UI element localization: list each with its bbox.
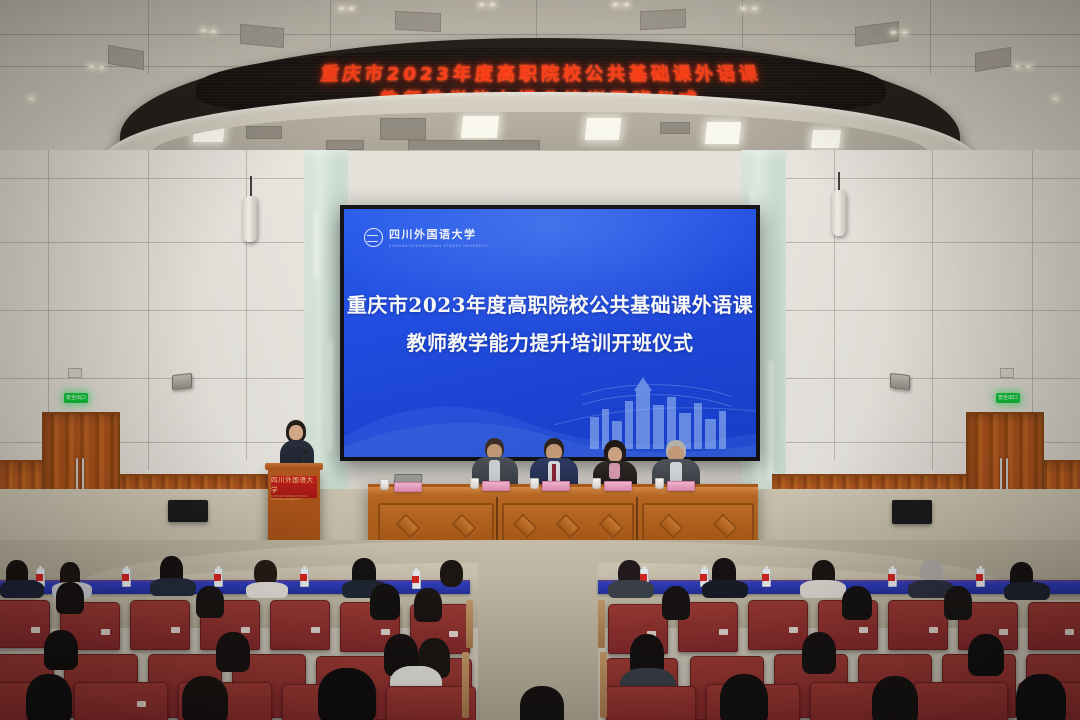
ceiling-panel-light xyxy=(705,122,741,144)
podium-plaque-text-cn: 四川外国语大学 xyxy=(271,474,317,494)
nameplate xyxy=(394,482,422,492)
attendee-head xyxy=(56,582,84,614)
exit-sign-left: 安全出口 xyxy=(64,393,88,403)
speaker-mount-stem xyxy=(250,176,252,198)
tea-cup xyxy=(470,478,479,489)
ceiling-downlight xyxy=(200,28,207,33)
ceiling-vent-grille xyxy=(975,47,1011,72)
ceiling-downlight xyxy=(623,2,630,7)
water-bottle xyxy=(976,568,985,587)
water-bottle xyxy=(762,568,771,587)
wall-speaker-right xyxy=(890,373,910,390)
screen-logo-text-en: SICHUAN INTERNATIONAL STUDIES UNIVERSITY xyxy=(389,244,488,248)
attendee-head xyxy=(720,674,768,720)
attendee-head xyxy=(842,586,872,620)
projection-screen: 四川外国语大学 SICHUAN INTERNATIONAL STUDIES UN… xyxy=(344,209,756,457)
audience-seat[interactable] xyxy=(748,600,808,650)
audience-seat[interactable] xyxy=(888,600,948,650)
wall-fixture-left xyxy=(68,368,82,378)
auditorium-scene: 重庆市2023年度高职院校公共基础课外语课 教师教学能力提升培训开班仪式 xyxy=(0,0,1080,720)
stage-monitor-left xyxy=(168,500,208,522)
soffit-vent xyxy=(246,126,282,139)
speaker-mount-stem xyxy=(838,172,840,192)
nameplate xyxy=(542,481,570,491)
exit-sign-label: 安全出口 xyxy=(998,396,1018,401)
water-bottle xyxy=(412,570,421,589)
attendee-head xyxy=(662,586,690,620)
audience-seat[interactable] xyxy=(1028,602,1080,650)
audience-seat[interactable] xyxy=(0,600,50,648)
ceiling-downlight xyxy=(210,29,217,34)
seat-divider xyxy=(600,652,607,718)
attendee-head xyxy=(318,668,376,720)
screen-logo-text-cn: 四川外国语大学 xyxy=(389,226,488,242)
audience-seat[interactable] xyxy=(914,682,1008,720)
water-bottle xyxy=(300,568,309,587)
ceiling-downlight xyxy=(1014,64,1021,69)
screen-title-line-1: 重庆市2023年度高职院校公共基础课外语课 xyxy=(344,289,756,318)
hanging-speaker-left xyxy=(243,196,257,242)
ceiling-downlight xyxy=(890,30,897,35)
ceiling-downlight xyxy=(740,6,747,11)
attendee-shoulders xyxy=(702,580,748,598)
tea-cup xyxy=(592,478,601,489)
seat-divider xyxy=(462,652,469,718)
attendee-shoulders xyxy=(246,582,288,598)
podium-plaque-text-en: SICHUAN INTERNATIONAL STUDIES UNIVERSITY xyxy=(271,495,317,501)
stage-monitor-right xyxy=(892,500,932,524)
hanging-speaker-right xyxy=(832,190,846,236)
attendee-head xyxy=(872,676,918,720)
water-bottle xyxy=(214,568,223,587)
attendee-head xyxy=(802,632,836,674)
ceiling-downlight xyxy=(338,6,345,11)
attendee-head xyxy=(1016,674,1066,720)
attendee-head xyxy=(370,584,400,620)
audience-seat[interactable] xyxy=(130,600,190,650)
ceiling-panel-light xyxy=(585,118,621,140)
exit-sign-right: 安全出口 xyxy=(996,393,1020,403)
university-emblem-icon xyxy=(364,228,383,247)
ceiling-vent-grille xyxy=(240,24,284,49)
ceiling-downlight xyxy=(612,2,619,7)
ceiling-panel-light xyxy=(461,116,499,138)
attendee-shoulders xyxy=(150,578,196,596)
wall-speaker-left xyxy=(172,373,192,390)
ceiling-downlight xyxy=(478,2,485,7)
attendee-head xyxy=(44,630,78,670)
ceiling-downlight xyxy=(98,65,105,70)
attendee-head xyxy=(26,674,72,720)
nameplate xyxy=(667,481,695,491)
attendee-head xyxy=(440,560,463,587)
attendee-head xyxy=(414,588,442,622)
water-bottle xyxy=(888,568,897,587)
soffit-vent xyxy=(326,140,364,150)
ceiling-downlight xyxy=(901,30,908,35)
ceiling-panel-light xyxy=(811,130,841,148)
exit-sign-label: 安全出口 xyxy=(66,396,86,401)
tea-cup xyxy=(530,478,539,489)
ceiling-downlight xyxy=(28,96,35,101)
ceiling-downlight xyxy=(348,6,355,11)
tea-cup xyxy=(380,479,389,490)
screen-university-logo: 四川外国语大学 SICHUAN INTERNATIONAL STUDIES UN… xyxy=(364,226,488,248)
soffit-vent xyxy=(380,118,426,140)
screen-skyline-graphic xyxy=(582,371,732,449)
attendee-shoulders xyxy=(800,580,846,598)
seat-divider xyxy=(598,600,605,648)
attendee-head xyxy=(182,676,228,720)
water-bottle xyxy=(122,568,131,587)
ceiling-downlight xyxy=(489,2,496,7)
attendee-shoulders xyxy=(1004,582,1050,600)
ceiling-vent-grille xyxy=(640,9,686,30)
nameplate xyxy=(482,481,510,491)
attendee-head xyxy=(216,632,250,672)
tea-cup xyxy=(655,478,664,489)
seat-divider xyxy=(466,600,473,648)
wall-fixture-right xyxy=(1000,368,1014,378)
attendee-head xyxy=(968,634,1004,676)
attendee-shoulders xyxy=(0,580,44,598)
soffit-vent xyxy=(660,122,690,134)
led-banner-line-1: 重庆市2023年度高职院校公共基础课外语课 xyxy=(196,60,886,86)
audience-seat[interactable] xyxy=(270,600,330,650)
ceiling-downlight xyxy=(1052,96,1059,101)
ceiling-panel-light xyxy=(193,122,225,142)
ceiling-vent-grille xyxy=(395,11,441,32)
screen-title-line-2: 教师教学能力提升培训开班仪式 xyxy=(344,327,756,356)
attendee-head xyxy=(520,686,564,720)
podium-plaque: 四川外国语大学 SICHUAN INTERNATIONAL STUDIES UN… xyxy=(271,476,317,498)
audience-seat[interactable] xyxy=(74,682,168,720)
ceiling-downlight xyxy=(88,64,95,69)
ceiling-downlight xyxy=(1025,64,1032,69)
audience-area xyxy=(0,556,1080,720)
attendee-shoulders xyxy=(608,580,654,598)
attendee-head xyxy=(196,586,224,618)
attendee-head xyxy=(944,586,972,620)
projection-screen-frame: 四川外国语大学 SICHUAN INTERNATIONAL STUDIES UN… xyxy=(340,205,760,461)
nameplate xyxy=(604,481,632,491)
audience-seat[interactable] xyxy=(606,686,696,720)
ceiling-downlight xyxy=(751,6,758,11)
